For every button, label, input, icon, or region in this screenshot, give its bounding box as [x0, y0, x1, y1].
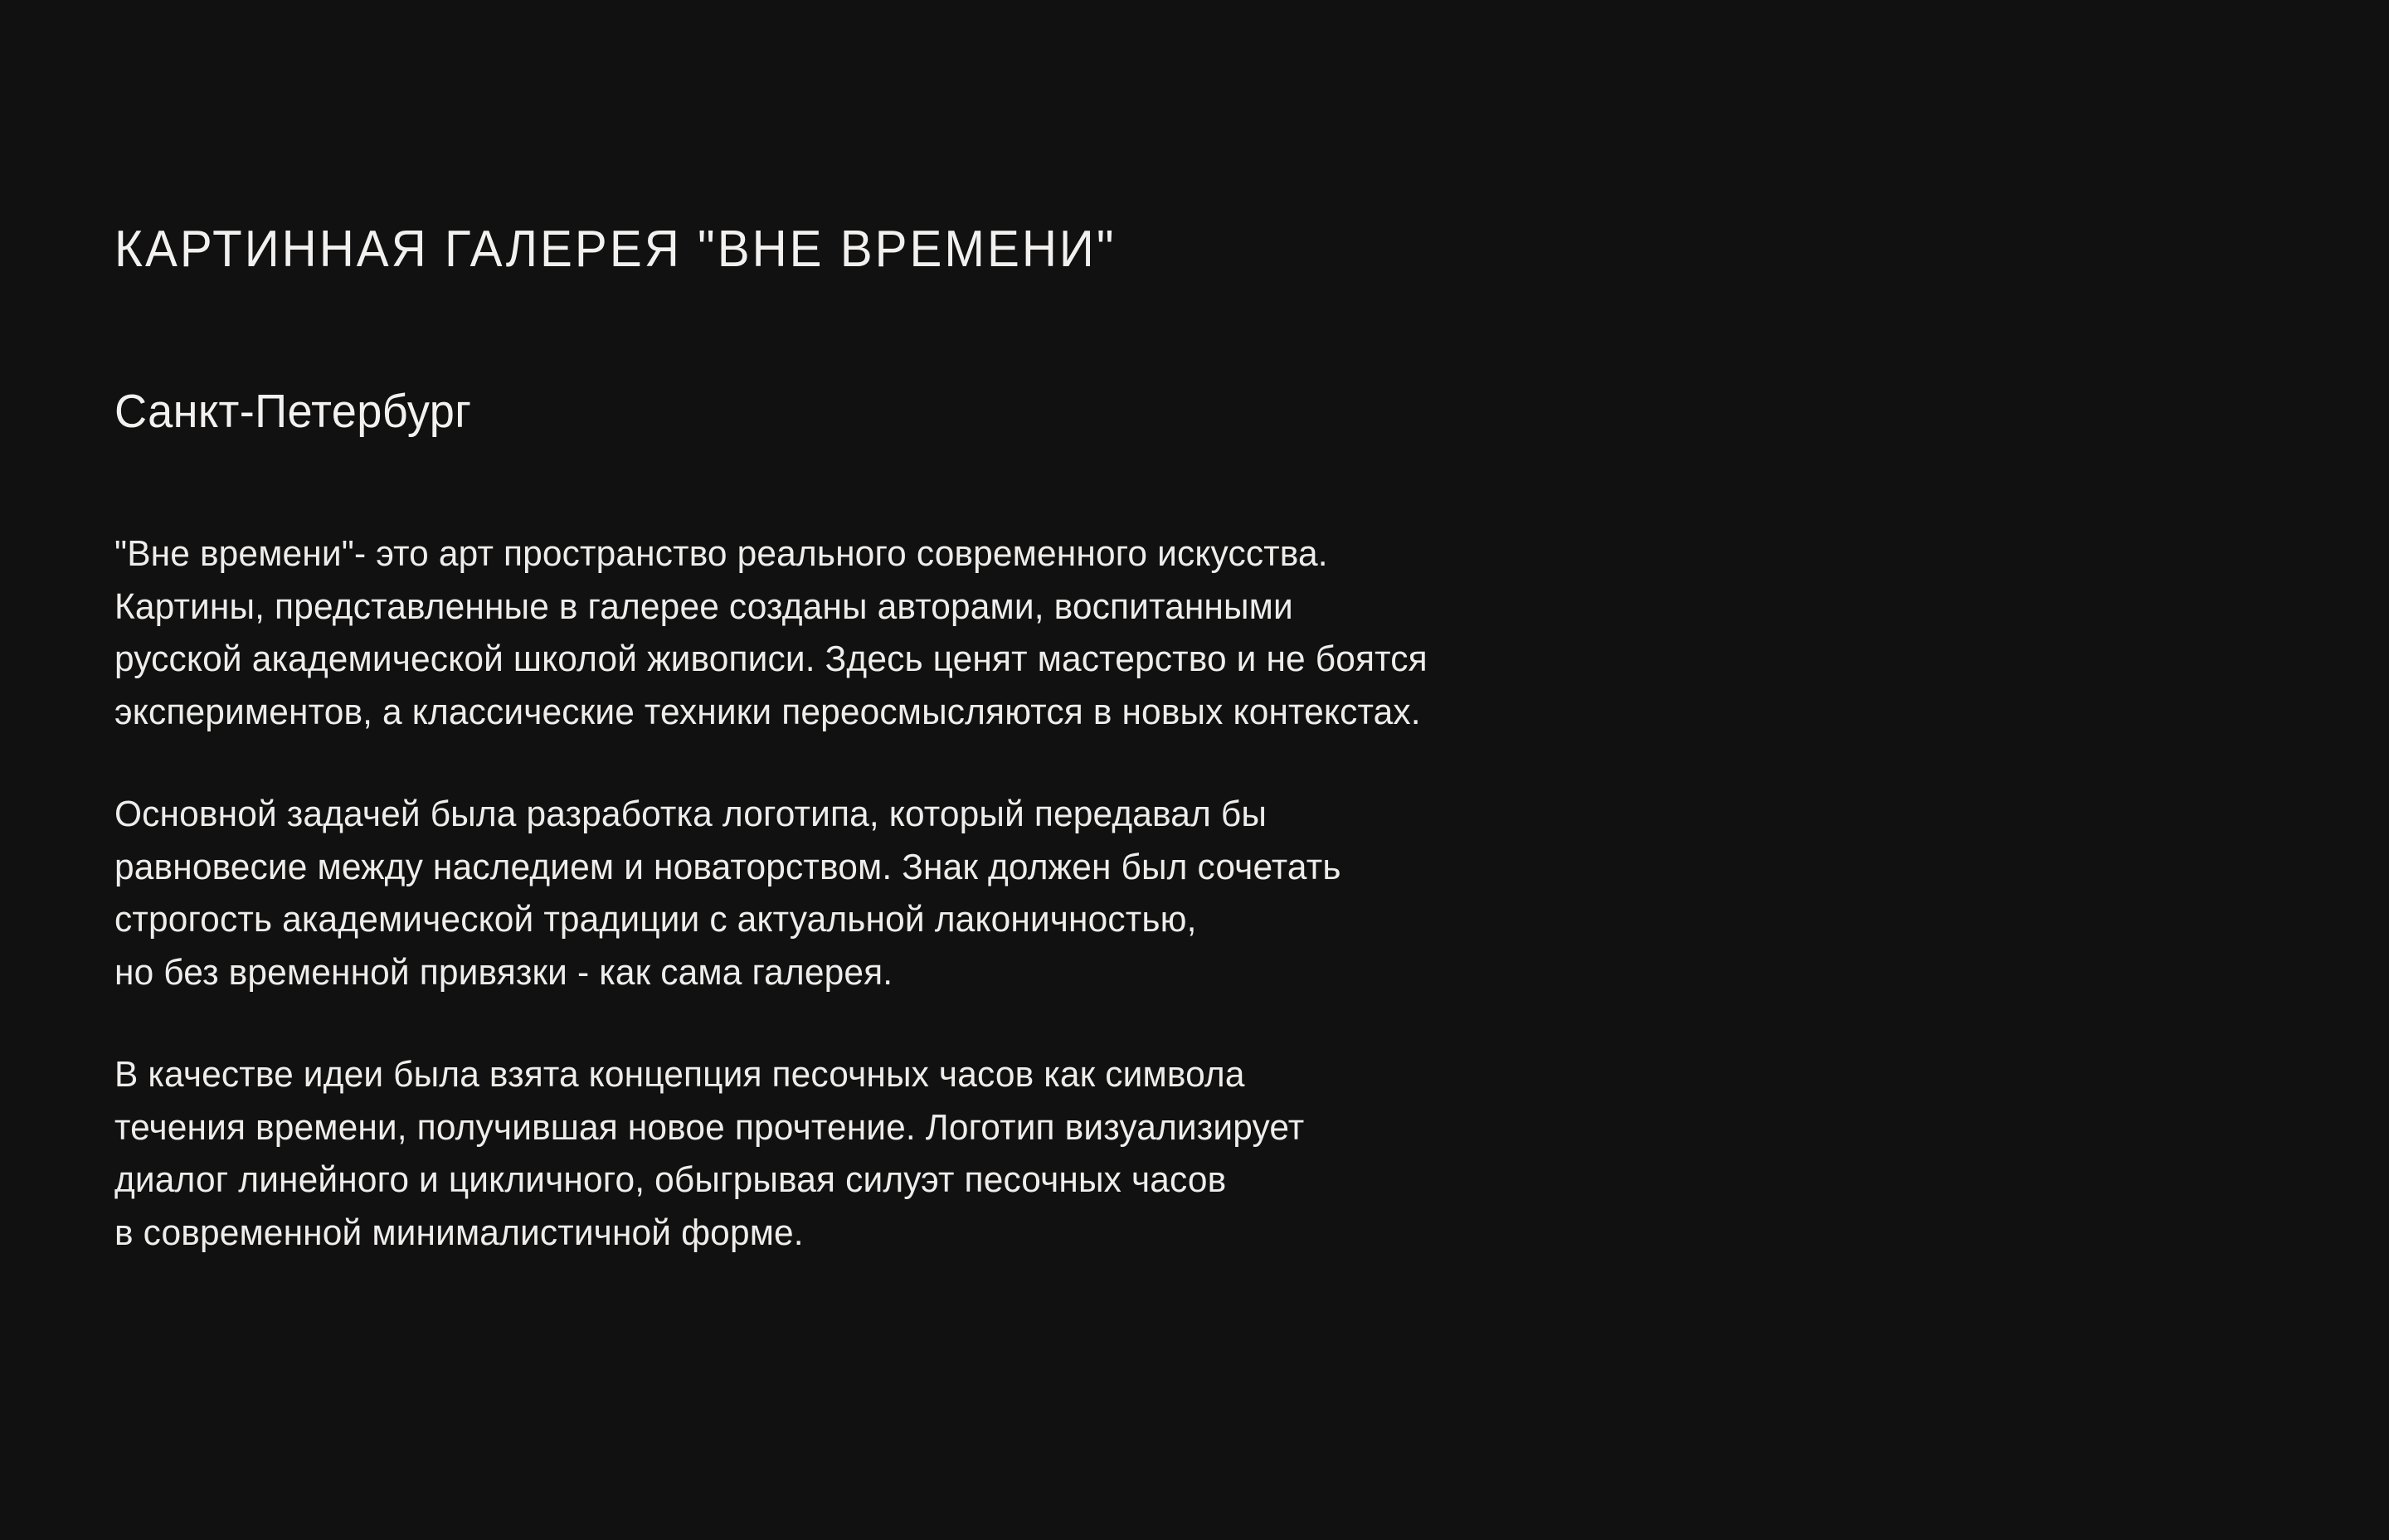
paragraph-task: Основной задачей была разработка логотип…	[114, 788, 2116, 998]
paragraph-line: экспериментов, а классические техники пе…	[114, 686, 2116, 739]
paragraph-line: Картины, представленные в галерее создан…	[114, 581, 2116, 634]
paragraph-intro: "Вне времени"- это арт пространство реал…	[114, 527, 2116, 738]
paragraph-line: в современной минималистичной форме.	[114, 1207, 2116, 1260]
paragraph-line: "Вне времени"- это арт пространство реал…	[114, 527, 2116, 581]
page-subtitle-location: Санкт-Петербург	[114, 386, 471, 438]
paragraph-line: русской академической школой живописи. З…	[114, 633, 2116, 686]
paragraph-line: Основной задачей была разработка логотип…	[114, 788, 2116, 841]
paragraph-line: строгость академической традиции с актуа…	[114, 893, 2116, 946]
paragraph-line: течения времени, получившая новое прочте…	[114, 1101, 2116, 1154]
page-title: КАРТИННАЯ ГАЛЕРЕЯ "ВНЕ ВРЕМЕНИ"	[114, 222, 1117, 276]
paragraph-line: но без временной привязки - как сама гал…	[114, 946, 2116, 999]
presentation-slide: КАРТИННАЯ ГАЛЕРЕЯ "ВНЕ ВРЕМЕНИ" Санкт-Пе…	[0, 0, 2389, 1540]
paragraph-line: равновесие между наследием и новаторство…	[114, 841, 2116, 894]
paragraph-idea: В качестве идеи была взята концепция пес…	[114, 1048, 2116, 1259]
body-text-block: "Вне времени"- это арт пространство реал…	[114, 527, 2188, 1259]
paragraph-line: В качестве идеи была взята концепция пес…	[114, 1048, 2116, 1101]
paragraph-line: диалог линейного и цикличного, обыгрывая…	[114, 1154, 2116, 1207]
